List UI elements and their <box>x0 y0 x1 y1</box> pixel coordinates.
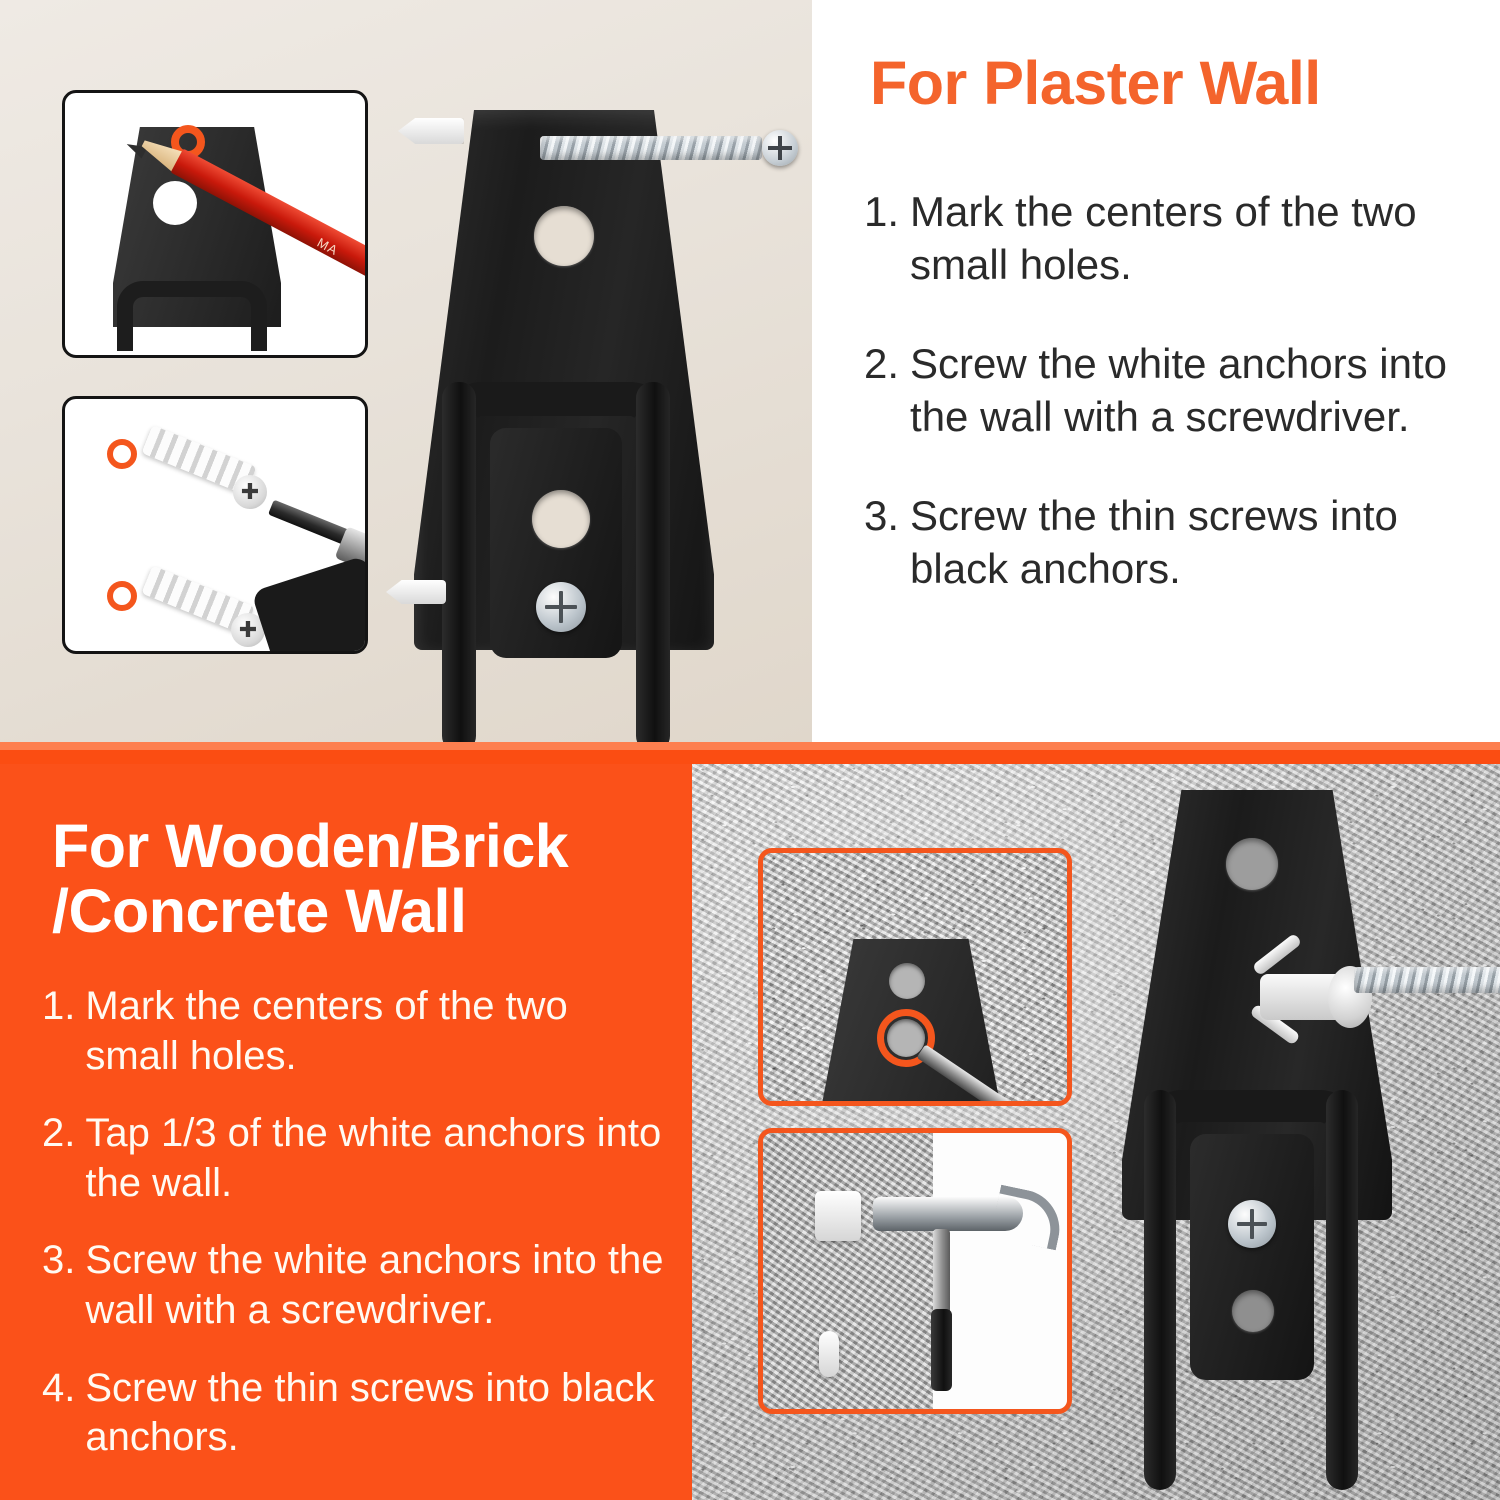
step-number: 2. <box>42 1109 75 1208</box>
bracket-arm-right <box>636 382 670 742</box>
screw-shank <box>540 136 762 160</box>
plaster-title: For Plaster Wall <box>870 48 1321 118</box>
step-number: 1. <box>42 982 75 1081</box>
inset-hammer-anchor <box>758 1128 1072 1414</box>
list-item: 3. Screw the white anchors into the wall… <box>42 1236 672 1335</box>
step-text: Tap 1/3 of the white anchors into the wa… <box>85 1109 672 1208</box>
bracket-hole-lower <box>1232 1290 1274 1332</box>
bracket-hole-middle <box>532 490 590 548</box>
wooden-wall-section: For Wooden/Brick /Concrete Wall 1. Mark … <box>0 764 1500 1500</box>
molly-anchor <box>1232 940 1360 1048</box>
white-anchor-upper <box>815 1191 861 1241</box>
bracket-arm-right <box>1326 1090 1358 1490</box>
long-screw-upper <box>540 130 798 164</box>
plaster-wall-section: MA For Plaster Wall 1. Mark the cent <box>0 0 1500 742</box>
molly-wing-upper <box>1252 933 1303 976</box>
white-background-half <box>933 1133 1067 1409</box>
screw-shank <box>1354 967 1500 993</box>
black-bracket-mounted <box>1122 790 1392 1490</box>
white-anchor-upper <box>398 118 464 144</box>
plaster-text-panel: For Plaster Wall 1. Mark the centers of … <box>812 0 1500 742</box>
inset-pencil-marking: MA <box>62 90 368 358</box>
black-bracket-corner <box>251 555 368 654</box>
bracket-arm-closeup <box>117 281 267 351</box>
long-screw-mounted <box>1354 962 1500 996</box>
list-item: 1. Mark the centers of the two small hol… <box>42 982 672 1081</box>
phillips-screw-icon <box>536 582 586 632</box>
wooden-title: For Wooden/Brick /Concrete Wall <box>52 814 672 943</box>
white-anchor-lower <box>819 1331 839 1377</box>
list-item: 2. Tap 1/3 of the white anchors into the… <box>42 1109 672 1208</box>
wooden-title-line-1: For Wooden/Brick <box>52 814 672 879</box>
step-number: 1. <box>864 186 899 292</box>
inset-anchors-screwdriver <box>62 396 368 654</box>
bracket-arm-left <box>442 382 476 742</box>
instruction-infographic: MA For Plaster Wall 1. Mark the cent <box>0 0 1500 1500</box>
step-text: Screw the thin screws into black anchors… <box>85 1364 672 1463</box>
hammer-grip <box>931 1309 952 1391</box>
step-number: 3. <box>864 490 899 596</box>
bracket-hole-top <box>534 206 594 266</box>
step-number: 4. <box>42 1364 75 1463</box>
list-item: 1. Mark the centers of the two small hol… <box>864 186 1474 292</box>
screw-head-icon <box>762 130 798 166</box>
list-item: 3. Screw the thin screws into black anch… <box>864 490 1474 596</box>
stucco-wall-half <box>763 1133 933 1409</box>
inset-drill-marking <box>758 848 1072 1106</box>
step-number: 2. <box>864 338 899 444</box>
section-divider <box>0 742 1500 764</box>
list-item: 4. Screw the thin screws into black anch… <box>42 1364 672 1463</box>
bracket-hole-top <box>1226 838 1278 890</box>
list-item: 2. Screw the white anchors into the wall… <box>864 338 1474 444</box>
white-anchor-lower <box>386 580 446 604</box>
plaster-steps-list: 1. Mark the centers of the two small hol… <box>864 186 1474 641</box>
orange-ring-marker-icon-2 <box>107 581 137 611</box>
wooden-title-line-2: /Concrete Wall <box>52 879 672 944</box>
bracket-hole-closeup <box>153 181 197 225</box>
step-text: Mark the centers of the two small holes. <box>85 982 672 1081</box>
step-text: Screw the white anchors into the wall wi… <box>910 338 1474 444</box>
anchor-phillips-head-1 <box>233 475 267 509</box>
bracket-hole-upper-closeup <box>889 963 925 999</box>
bracket-arm-left <box>1144 1090 1176 1490</box>
wooden-text-panel: For Wooden/Brick /Concrete Wall 1. Mark … <box>0 764 692 1500</box>
step-text: Screw the white anchors into the wall wi… <box>85 1236 672 1335</box>
phillips-screw-icon <box>1228 1200 1276 1248</box>
wooden-photo-panel <box>692 764 1500 1500</box>
bracket-inner-panel <box>1190 1134 1314 1380</box>
step-text: Mark the centers of the two small holes. <box>910 186 1474 292</box>
step-text: Screw the thin screws into black anchors… <box>910 490 1474 596</box>
wooden-steps-list: 1. Mark the centers of the two small hol… <box>42 982 672 1491</box>
step-number: 3. <box>42 1236 75 1335</box>
orange-ring-marker-icon-1 <box>107 439 137 469</box>
black-bracket-main <box>414 110 714 742</box>
plaster-photo-panel: MA <box>0 0 812 742</box>
